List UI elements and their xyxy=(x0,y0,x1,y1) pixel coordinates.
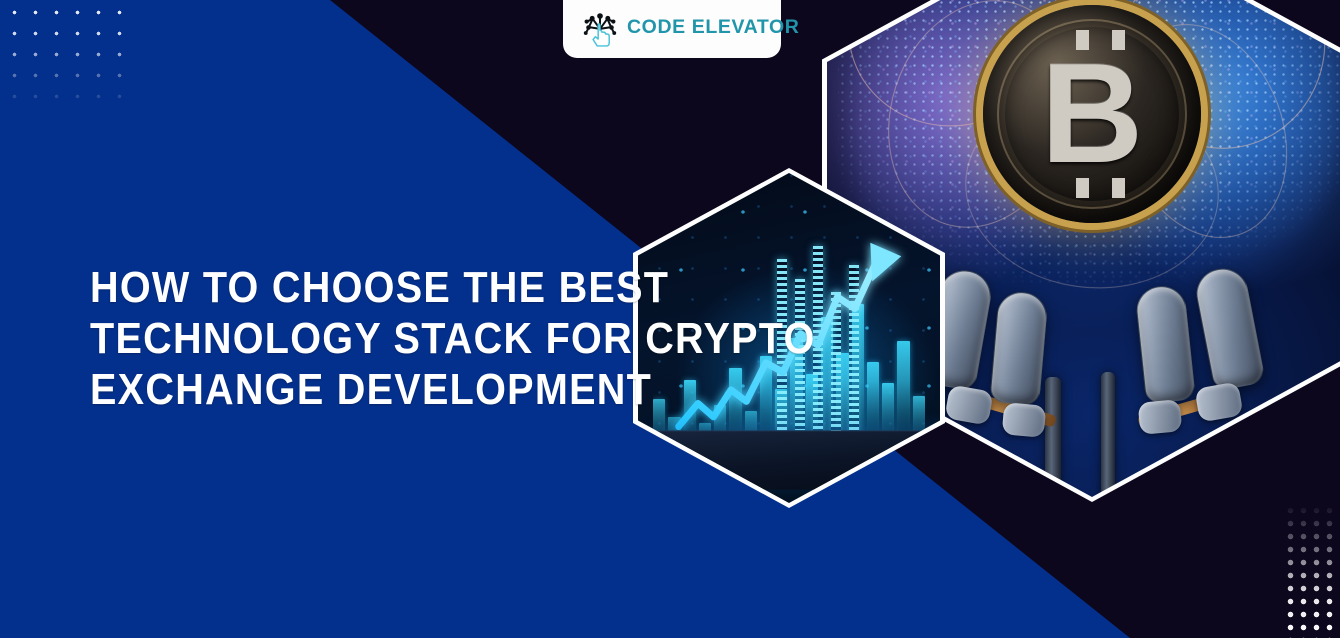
robot-arm-rod xyxy=(1101,372,1115,497)
page-title: HOW TO CHOOSE THE BEST TECHNOLOGY STACK … xyxy=(90,262,594,415)
headline-line: TECHNOLOGY STACK FOR CRYPTO xyxy=(90,313,594,364)
robot-finger xyxy=(1192,264,1266,392)
robot-knuckle xyxy=(1002,402,1047,438)
network-hand-click-icon xyxy=(577,5,623,51)
brand-logo[interactable]: CODE ELEVATOR xyxy=(563,0,781,58)
robot-finger xyxy=(989,290,1049,406)
brand-name: CODE ELEVATOR xyxy=(627,16,799,39)
robot-knuckle xyxy=(945,384,994,425)
robot-knuckle xyxy=(1137,399,1182,435)
headline-line: EXCHANGE DEVELOPMENT xyxy=(90,364,594,415)
robot-finger xyxy=(1134,284,1196,405)
robot-knuckle xyxy=(1195,381,1244,422)
bitcoin-symbol: B xyxy=(1041,43,1144,185)
bitcoin-coin: B xyxy=(983,5,1201,223)
headline-line: HOW TO CHOOSE THE BEST xyxy=(90,262,594,313)
blog-banner: B xyxy=(0,0,1340,638)
